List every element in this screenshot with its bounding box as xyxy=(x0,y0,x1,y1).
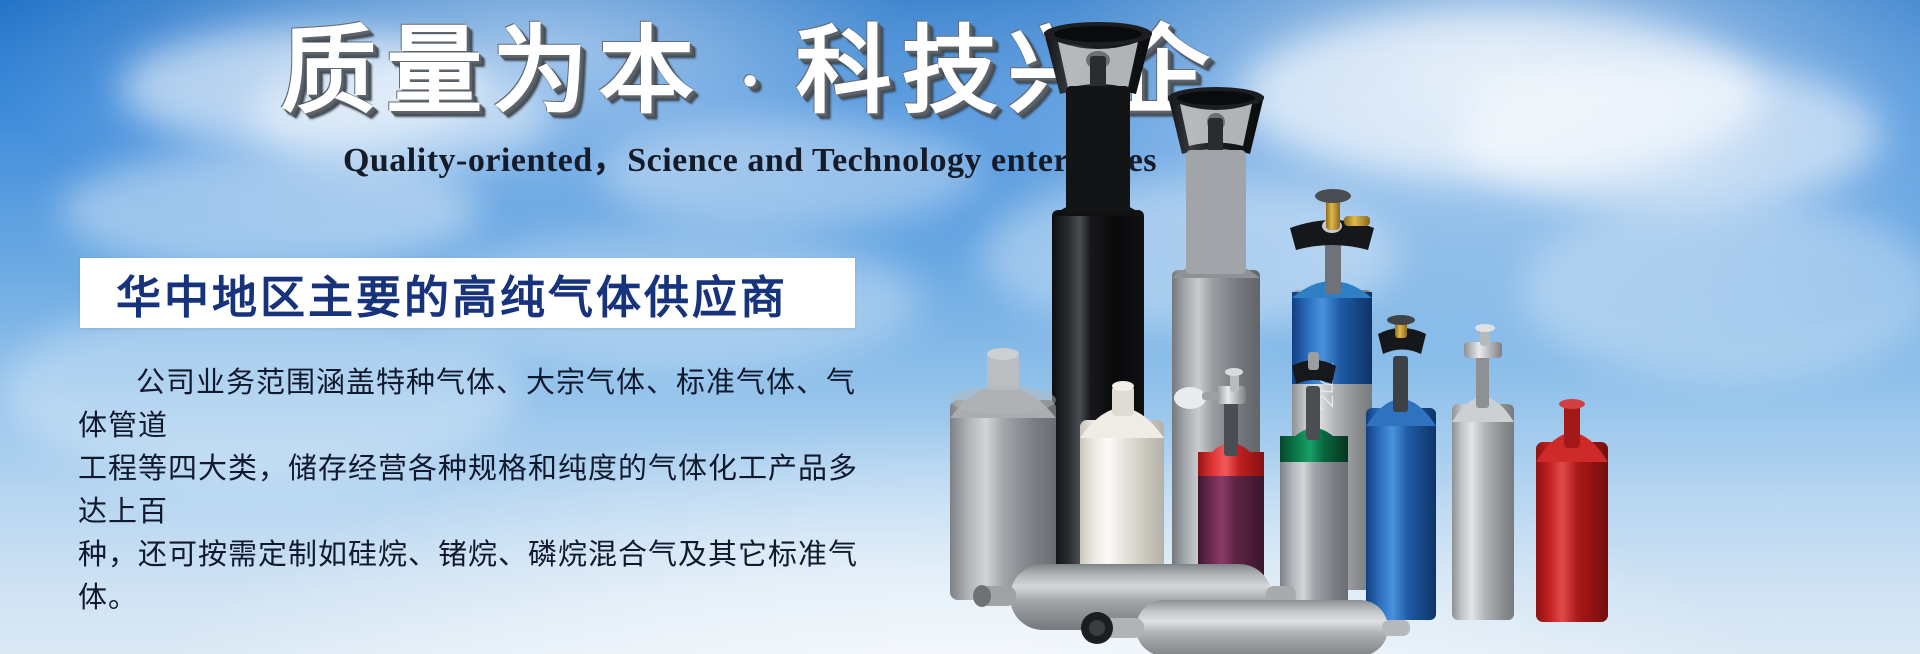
red-cylinder xyxy=(1536,399,1608,622)
tagline-text: 华中地区主要的高纯气体供应商 xyxy=(80,261,788,326)
tagline-box: 华中地区主要的高纯气体供应商 xyxy=(80,258,855,328)
promo-banner: 质量为本 · 科技兴企 Quality-oriented，Science and… xyxy=(0,0,1920,654)
blue-cylinder xyxy=(1366,315,1436,620)
banner-paragraph: 公司业务范围涵盖特种气体、大宗气体、标准气体、气体管道 工程等四大类，储存经营各… xyxy=(78,362,868,620)
paragraph-line-1: 公司业务范围涵盖特种气体、大宗气体、标准气体、气体管道 xyxy=(78,362,868,448)
headline-part-1: 质量为本 xyxy=(280,18,704,125)
gray-wide-cylinder xyxy=(950,348,1056,600)
paragraph-line-2: 工程等四大类，储存经营各种规格和纯度的气体化工产品多达上百 xyxy=(78,448,868,534)
headline-separator-dot: · xyxy=(738,43,761,120)
cylinders-svg: ヿ刀乙 xyxy=(940,0,1920,654)
paragraph-line-3: 种，还可按需定制如硅烷、锗烷、磷烷混合气及其它标准气体。 xyxy=(78,534,868,620)
gas-cylinder-group-photo: ヿ刀乙 xyxy=(940,0,1920,654)
silver-aluminium-cylinder xyxy=(1452,324,1514,620)
